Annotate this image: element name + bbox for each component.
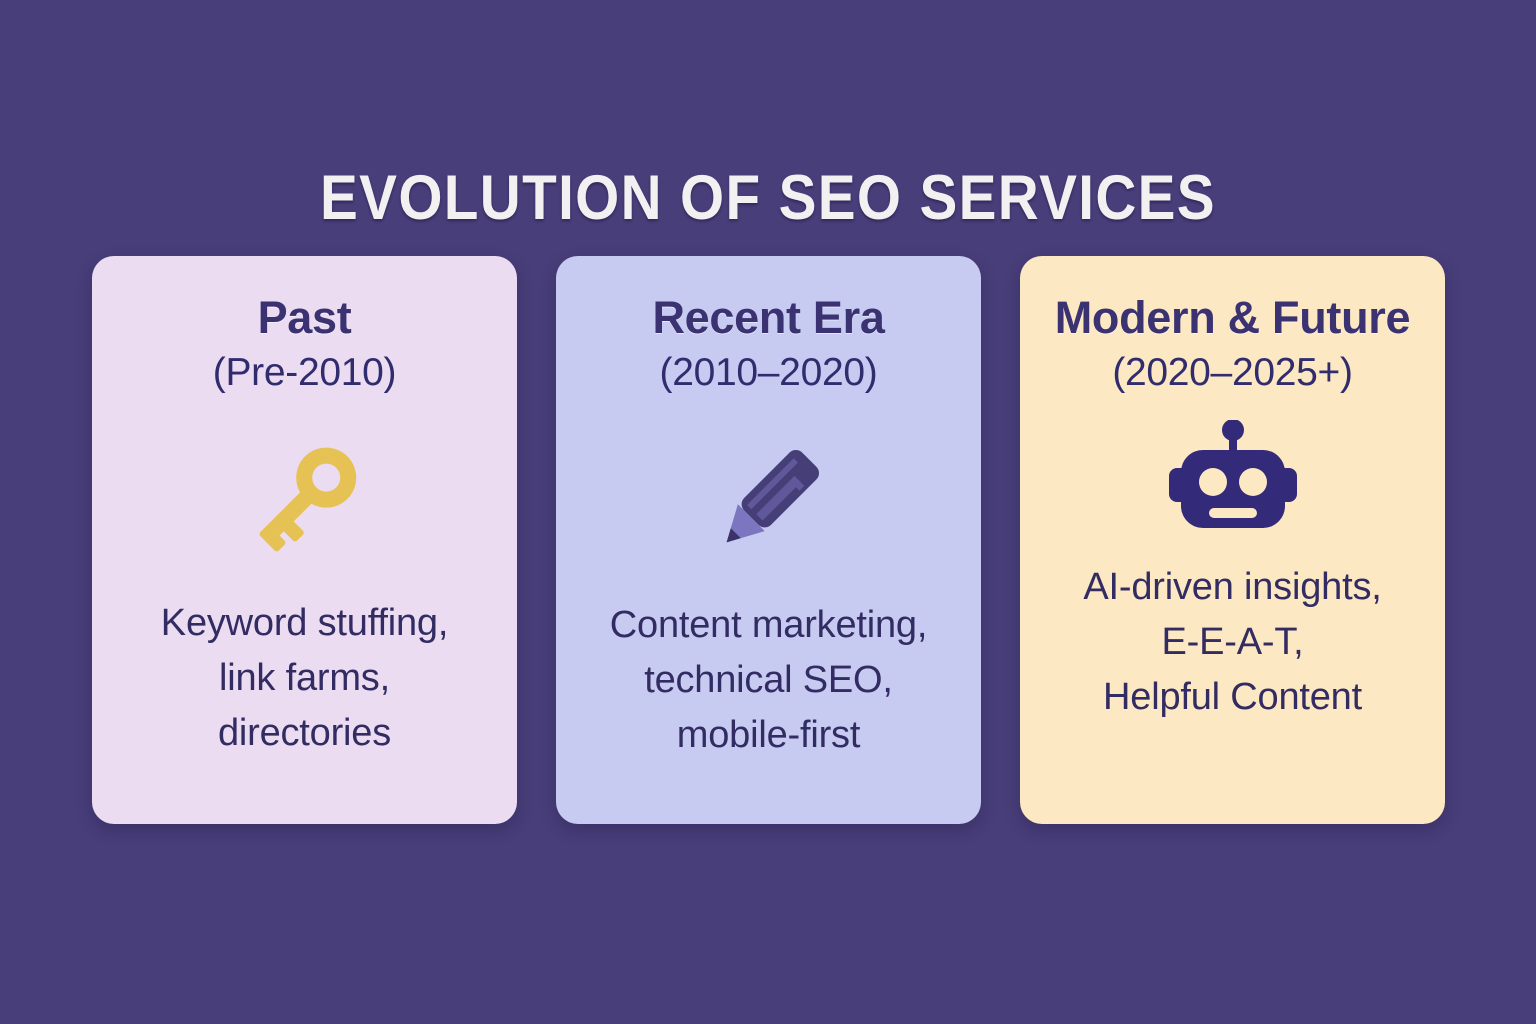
card-recent-body: Content marketing, technical SEO, mobile… (610, 598, 927, 763)
key-icon (239, 430, 371, 562)
cards-row: Past (Pre-2010) Keyword stuf (92, 256, 1445, 824)
card-past-body: Keyword stuffing, link farms, directorie… (161, 596, 448, 761)
page-title: EVOLUTION OF SEO SERVICES (77, 161, 1459, 235)
card-past[interactable]: Past (Pre-2010) Keyword stuf (92, 256, 517, 824)
robot-icon (1163, 420, 1303, 536)
card-past-icon-wrap (112, 428, 497, 564)
card-modern-body: AI-driven insights, E-E-A-T, Helpful Con… (1083, 560, 1381, 725)
card-recent-heading: Recent Era (652, 290, 884, 346)
card-modern[interactable]: Modern & Future (2020–2025+) (1020, 256, 1445, 824)
infographic-canvas: EVOLUTION OF SEO SERVICES Past (Pre-2010… (0, 0, 1536, 1024)
card-modern-icon-wrap (1040, 418, 1425, 538)
card-recent-subheading: (2010–2020) (660, 348, 878, 398)
pencil-icon (694, 425, 844, 575)
card-past-heading: Past (258, 290, 352, 346)
card-modern-subheading: (2020–2025+) (1112, 348, 1352, 398)
card-past-subheading: (Pre-2010) (213, 348, 396, 398)
card-recent-icon-wrap (576, 432, 961, 568)
card-modern-heading: Modern & Future (1055, 290, 1410, 346)
card-recent[interactable]: Recent Era (2010–2020) (556, 256, 981, 824)
